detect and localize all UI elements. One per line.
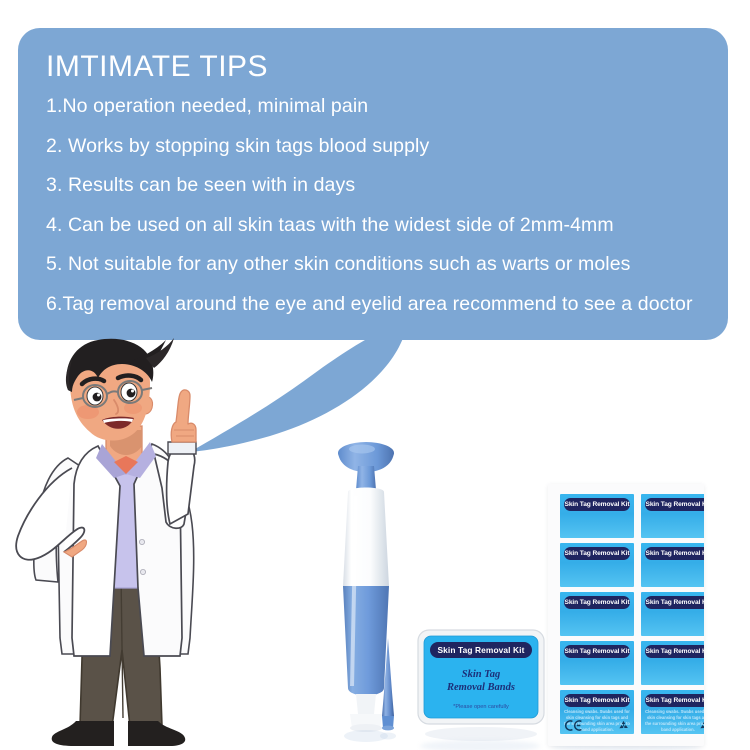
sachet-banner-text: Skin Tag Removal Kit: [646, 648, 704, 655]
box-open-note: *Please open carefully: [424, 704, 538, 710]
box-banner: Skin Tag Removal Kit: [430, 642, 532, 658]
sachet-banner-text: Skin Tag Removal Kit: [565, 697, 630, 704]
sachet-banner: Skin Tag Removal Kit: [645, 645, 704, 658]
tip-item-5: 5. Not suitable for any other skin condi…: [46, 255, 702, 275]
sachet-banner-text: Skin Tag Removal Kit: [565, 599, 630, 606]
sachet-banner-text: Skin Tag Removal Kit: [646, 550, 704, 557]
device-plunger-knob: [338, 442, 394, 490]
tip-item-6: 6.Tag removal around the eye and eyelid …: [46, 295, 702, 315]
sachet-banner: Skin Tag Removal Kit: [564, 547, 630, 560]
swab-sachet-grid: Skin Tag Removal Kit Skin Tag Removal Ki…: [560, 494, 704, 736]
swab-sheet: Skin Tag Removal Kit Skin Tag Removal Ki…: [548, 484, 704, 746]
device-upper-body: [343, 488, 389, 587]
sachet-marks: [646, 720, 704, 731]
doctor-head: [66, 338, 174, 441]
sachet: Skin Tag Removal Kit: [560, 592, 634, 636]
sachet: Skin Tag Removal Kit: [560, 641, 634, 685]
sachet: Skin Tag Removal Kit: [560, 543, 634, 587]
sachet-banner: Skin Tag Removal Kit: [645, 498, 704, 511]
doctor-pointing-hand: [171, 390, 196, 442]
tip-item-3: 3. Results can be seen with in days: [46, 176, 702, 196]
recycle-icon: [699, 720, 704, 731]
sachet-banner-text: Skin Tag Removal Kit: [565, 648, 630, 655]
sachet-marks: [565, 720, 629, 731]
sachet: Skin Tag Removal Kit: [641, 592, 704, 636]
infographic-canvas: IMTIMATE TIPS 1.No operation needed, min…: [0, 0, 750, 750]
doctor-shoes: [52, 721, 186, 746]
sachet-banner: Skin Tag Removal Kit: [564, 498, 630, 511]
sachet-banner-text: Skin Tag Removal Kit: [646, 599, 704, 606]
sachet: Skin Tag Removal Kit Cleansing swabs. Sw…: [560, 690, 634, 734]
sachet-banner: Skin Tag Removal Kit: [564, 645, 630, 658]
ce-mark-icon: [565, 720, 583, 731]
sachet: Skin Tag Removal Kit Cleansing swabs. Sw…: [641, 690, 704, 734]
sachet-banner-text: Skin Tag Removal Kit: [646, 501, 704, 508]
sachet-banner: Skin Tag Removal Kit: [564, 596, 630, 609]
box-banner-text: Skin Tag Removal Kit: [437, 645, 524, 655]
sachet-banner-text: Skin Tag Removal Kit: [646, 697, 704, 704]
sachet: Skin Tag Removal Kit: [560, 494, 634, 538]
tip-item-2: 2. Works by stopping skin tags blood sup…: [46, 137, 702, 157]
sachet-banner-text: Skin Tag Removal Kit: [565, 550, 630, 557]
sachet-banner-text: Skin Tag Removal Kit: [565, 501, 630, 508]
spare-cone-tip: [370, 636, 406, 744]
sachet: Skin Tag Removal Kit: [641, 543, 704, 587]
box-subtitle-line2: Removal Bands: [424, 681, 538, 694]
sachet-banner: Skin Tag Removal Kit: [645, 596, 704, 609]
tips-speech-bubble: IMTIMATE TIPS 1.No operation needed, min…: [18, 28, 728, 340]
doctor-illustration: [2, 338, 242, 750]
sachet-banner: Skin Tag Removal Kit: [645, 547, 704, 560]
tip-item-1: 1.No operation needed, minimal pain: [46, 97, 702, 117]
tip-item-4: 4. Can be used on all skin taas with the…: [46, 216, 702, 236]
sachet: Skin Tag Removal Kit: [641, 494, 704, 538]
box-subtitle-line1: Skin Tag: [424, 668, 538, 681]
sachet-banner: Skin Tag Removal Kit: [645, 694, 704, 707]
recycle-icon: [618, 720, 629, 731]
sachet: Skin Tag Removal Kit: [641, 641, 704, 685]
sachet-banner: Skin Tag Removal Kit: [564, 694, 630, 707]
band-box: Skin Tag Removal Kit Skin Tag Removal Ba…: [414, 628, 548, 746]
page-title: IMTIMATE TIPS: [46, 50, 702, 83]
